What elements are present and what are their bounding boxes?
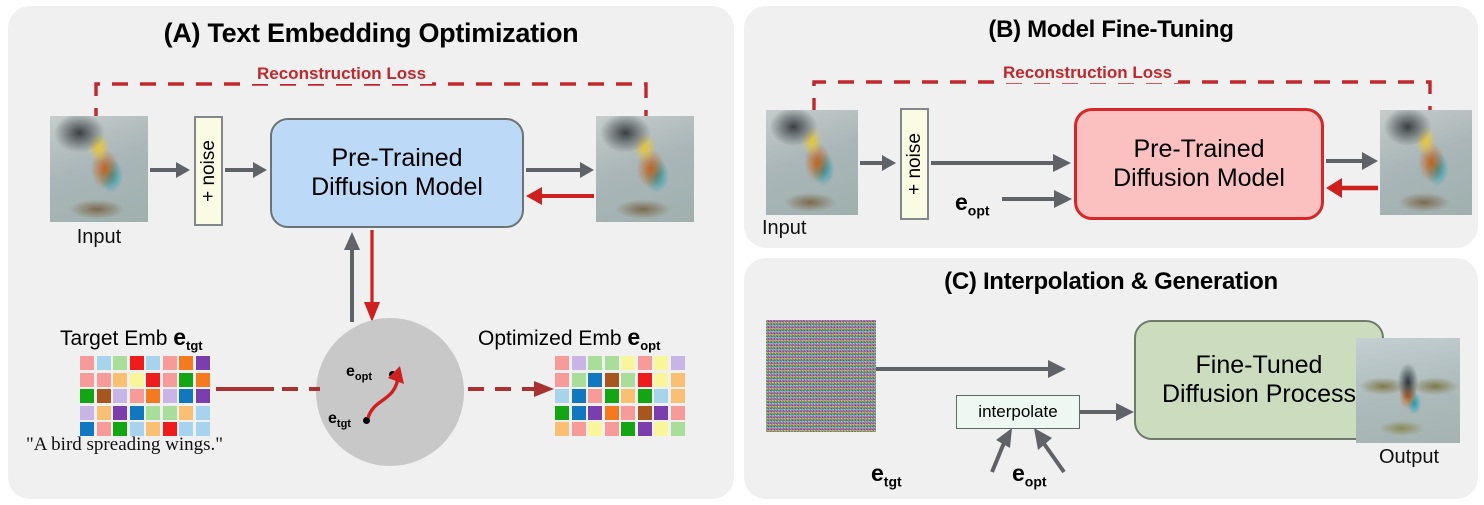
- panel-c-model-line1: Fine-Tuned: [1196, 351, 1323, 380]
- panel-a-loss-label: Reconstruction Loss: [251, 64, 432, 84]
- emb-cell-2-0: [555, 389, 569, 403]
- emb-cell-1-2: [113, 373, 127, 387]
- emb-cell-1-6: [179, 373, 193, 387]
- emb-cell-1-7: [671, 373, 685, 387]
- panel-c-arrow-noise-to-model: [876, 358, 1066, 380]
- emb-cell-0-3: [130, 356, 144, 370]
- emb-cell-1-6: [654, 373, 668, 387]
- emb-cell-4-5: [638, 422, 652, 436]
- emb-cell-0-3: [605, 356, 619, 370]
- panel-c-diffusion-process-box: Fine-Tuned Diffusion Process: [1134, 320, 1384, 440]
- panel-a-optimization-trajectory: [308, 306, 478, 476]
- emb-cell-0-0: [80, 356, 94, 370]
- emb-cell-4-4: [621, 422, 635, 436]
- panel-c-model-line2: Diffusion Process: [1162, 380, 1356, 409]
- emb-cell-2-7: [196, 389, 210, 403]
- panel-c-interpolation-and-generation: (C) Interpolation & Generation interpola…: [744, 258, 1478, 499]
- panel-a-diffusion-model-box: Pre-Trained Diffusion Model: [270, 118, 524, 228]
- emb-cell-2-0: [80, 389, 94, 403]
- emb-cell-4-0: [555, 422, 569, 436]
- panel-c-title: (C) Interpolation & Generation: [744, 268, 1478, 296]
- emb-cell-3-1: [97, 406, 111, 420]
- panel-a-connector-latent-to-optimized: [468, 381, 560, 397]
- emb-cell-2-6: [179, 389, 193, 403]
- emb-cell-3-0: [555, 406, 569, 420]
- emb-cell-4-1: [572, 422, 586, 436]
- emb-cell-1-4: [621, 373, 635, 387]
- emb-cell-2-4: [621, 389, 635, 403]
- emb-cell-3-5: [163, 406, 177, 420]
- emb-cell-0-1: [572, 356, 586, 370]
- emb-cell-1-0: [555, 373, 569, 387]
- emb-cell-0-5: [163, 356, 177, 370]
- emb-cell-1-5: [638, 373, 652, 387]
- emb-cell-0-0: [555, 356, 569, 370]
- emb-cell-3-4: [146, 406, 160, 420]
- panel-b-input-image: [766, 110, 858, 215]
- emb-cell-0-7: [671, 356, 685, 370]
- emb-cell-0-6: [654, 356, 668, 370]
- emb-cell-3-5: [638, 406, 652, 420]
- panel-a-text-embedding-optimization: (A) Text Embedding Optimization Reconstr…: [8, 6, 734, 499]
- panel-c-noise-latent-image: [766, 320, 876, 432]
- emb-cell-0-4: [146, 356, 160, 370]
- emb-cell-1-1: [97, 373, 111, 387]
- emb-cell-3-0: [80, 406, 94, 420]
- panel-a-input-image: [50, 116, 148, 222]
- emb-cell-3-3: [130, 406, 144, 420]
- emb-cell-2-1: [572, 389, 586, 403]
- panel-b-arrow-noise-to-model: [931, 152, 1071, 174]
- emb-cell-2-3: [130, 389, 144, 403]
- panel-b-arrow-emb-to-model: [1002, 188, 1072, 210]
- emb-cell-0-2: [113, 356, 127, 370]
- emb-cell-1-3: [130, 373, 144, 387]
- emb-cell-0-6: [179, 356, 193, 370]
- emb-cell-2-1: [97, 389, 111, 403]
- panel-c-arrow-interpolate-to-model: [1080, 401, 1134, 423]
- emb-cell-2-5: [638, 389, 652, 403]
- emb-cell-1-3: [605, 373, 619, 387]
- panel-b-reconstructed-image: [1380, 110, 1472, 215]
- panel-b-input-caption: Input: [762, 217, 862, 240]
- emb-cell-1-1: [572, 373, 586, 387]
- emb-cell-0-1: [97, 356, 111, 370]
- emb-cell-0-4: [621, 356, 635, 370]
- emb-cell-2-2: [113, 389, 127, 403]
- panel-a-noise-label: + noise: [198, 140, 220, 202]
- emb-cell-1-2: [588, 373, 602, 387]
- panel-a-reconstructed-image: [596, 116, 694, 222]
- panel-c-emb-opt-label: eopt: [1012, 460, 1047, 490]
- emb-cell-3-2: [113, 406, 127, 420]
- emb-cell-3-6: [179, 406, 193, 420]
- emb-cell-1-5: [163, 373, 177, 387]
- emb-cell-4-6: [654, 422, 668, 436]
- panel-a-model-line2: Diffusion Model: [311, 173, 483, 202]
- panel-b-model-line2: Diffusion Model: [1113, 164, 1285, 193]
- panel-b-model-line1: Pre-Trained: [1133, 135, 1264, 164]
- panel-a-arrow-input-to-noise: [150, 158, 192, 182]
- emb-cell-2-6: [654, 389, 668, 403]
- panel-a-arrow-model-to-output: [526, 158, 596, 182]
- panel-b-loss-label: Reconstruction Loss: [997, 63, 1178, 83]
- emb-cell-0-7: [196, 356, 210, 370]
- panel-b-arrow-output-to-model-red: [1326, 176, 1378, 200]
- emb-cell-2-3: [605, 389, 619, 403]
- emb-cell-2-4: [146, 389, 160, 403]
- panel-a-optimized-emb-title: Optimized Emb eopt: [478, 324, 660, 353]
- emb-cell-4-2: [588, 422, 602, 436]
- panel-a-arrow-output-to-model-red: [526, 184, 596, 208]
- emb-cell-2-2: [588, 389, 602, 403]
- panel-a-optimized-embedding-grid: [555, 356, 685, 436]
- emb-cell-4-7: [671, 422, 685, 436]
- panel-c-output-image: [1356, 338, 1460, 443]
- panel-a-arrow-noise-to-model: [225, 158, 269, 182]
- panel-a-connector-target-to-latent: [216, 381, 326, 397]
- panel-c-interpolate-box: interpolate: [956, 395, 1080, 429]
- emb-cell-1-4: [146, 373, 160, 387]
- panel-b-noise-label: + noise: [904, 133, 926, 195]
- emb-cell-3-7: [196, 406, 210, 420]
- emb-cell-2-7: [671, 389, 685, 403]
- emb-cell-3-1: [572, 406, 586, 420]
- panel-a-add-noise-box: + noise: [194, 116, 223, 226]
- panel-c-output-caption: Output: [1354, 446, 1464, 469]
- emb-cell-3-2: [588, 406, 602, 420]
- panel-b-add-noise-box: + noise: [900, 108, 929, 220]
- panel-b-diffusion-model-box: Pre-Trained Diffusion Model: [1074, 108, 1324, 220]
- emb-cell-3-3: [605, 406, 619, 420]
- emb-cell-4-3: [605, 422, 619, 436]
- emb-cell-1-0: [80, 373, 94, 387]
- panel-b-arrow-input-to-noise: [860, 152, 898, 174]
- panel-c-interpolate-label: interpolate: [978, 402, 1057, 422]
- emb-cell-1-7: [196, 373, 210, 387]
- panel-a-prompt-text: "A bird spreading wings.": [26, 434, 223, 456]
- panel-b-model-fine-tuning: (B) Model Fine-Tuning Reconstruction Los…: [744, 6, 1478, 248]
- emb-cell-3-7: [671, 406, 685, 420]
- panel-a-input-caption: Input: [50, 226, 148, 249]
- panel-a-model-line1: Pre-Trained: [331, 144, 462, 173]
- emb-cell-2-5: [163, 389, 177, 403]
- panel-a-target-embedding-grid: [80, 356, 210, 436]
- emb-cell-3-4: [621, 406, 635, 420]
- panel-b-arrow-model-to-output: [1326, 150, 1378, 172]
- emb-cell-0-5: [638, 356, 652, 370]
- panel-a-target-emb-title: Target Emb etgt: [60, 324, 203, 353]
- emb-cell-0-2: [588, 356, 602, 370]
- emb-cell-3-6: [654, 406, 668, 420]
- panel-b-emb-opt-label: eopt: [955, 189, 990, 219]
- panel-c-emb-tgt-label: etgt: [871, 460, 902, 490]
